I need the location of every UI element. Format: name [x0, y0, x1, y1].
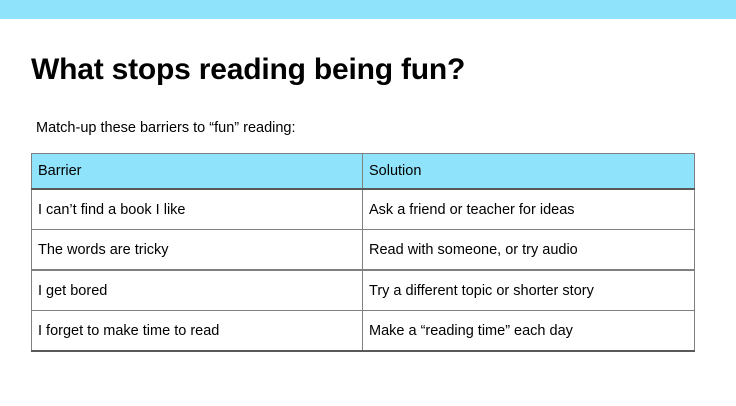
table-row: I get bored Try a different topic or sho… [32, 270, 695, 311]
cell-solution: Ask a friend or teacher for ideas [363, 189, 695, 230]
cell-barrier: I get bored [32, 270, 363, 311]
cell-solution: Read with someone, or try audio [363, 230, 695, 271]
table-row: The words are tricky Read with someone, … [32, 230, 695, 271]
table-header: Barrier Solution [32, 154, 695, 190]
table-row: I can’t find a book I like Ask a friend … [32, 189, 695, 230]
cell-barrier: The words are tricky [32, 230, 363, 271]
top-accent-band [0, 0, 736, 19]
page-title: What stops reading being fun? [31, 52, 465, 88]
cell-solution: Make a “reading time” each day [363, 311, 695, 352]
column-header-solution: Solution [363, 154, 695, 190]
instruction-text: Match-up these barriers to “fun” reading… [36, 118, 296, 138]
column-header-barrier: Barrier [32, 154, 363, 190]
cell-solution: Try a different topic or shorter story [363, 270, 695, 311]
table-body: I can’t find a book I like Ask a friend … [32, 189, 695, 351]
table-row: I forget to make time to read Make a “re… [32, 311, 695, 352]
cell-barrier: I forget to make time to read [32, 311, 363, 352]
table-header-row: Barrier Solution [32, 154, 695, 190]
cell-barrier: I can’t find a book I like [32, 189, 363, 230]
slide-canvas: What stops reading being fun? Match-up t… [0, 0, 736, 406]
barriers-solutions-table: Barrier Solution I can’t find a book I l… [31, 153, 695, 352]
